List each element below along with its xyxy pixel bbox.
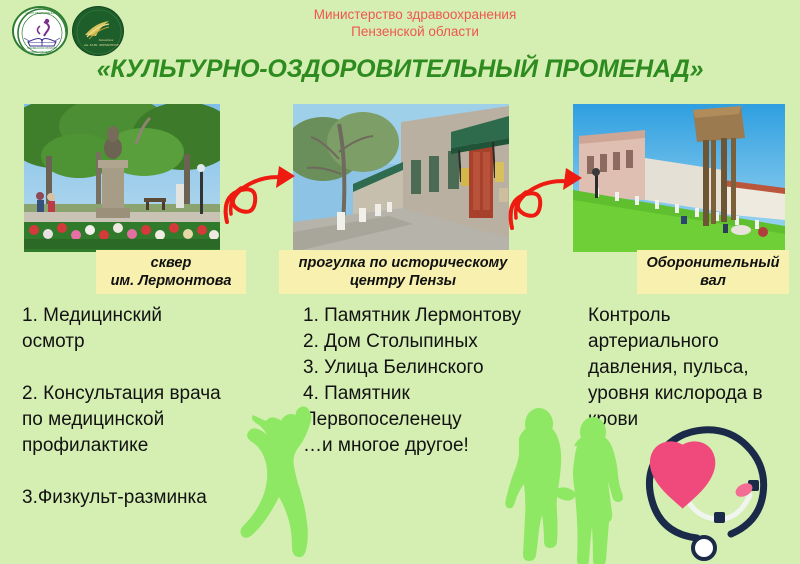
caption-line-1: прогулка по историческому — [299, 255, 508, 271]
caption-line-2: центру Пензы — [350, 273, 456, 289]
caption-defensive-rampart: Оборонительный вал — [637, 250, 789, 294]
svg-text:Заповедник: Заповедник — [99, 38, 114, 42]
caption-line-2: вал — [700, 273, 726, 289]
defensive-rampart-photo — [573, 104, 785, 252]
lermontov-quill-icon: Заповедник им. М.Ю. ЛЕРМОНТОВА — [73, 7, 124, 56]
medical-steps-column: 1. Медицинский осмотр 2. Консультация вр… — [22, 303, 282, 511]
ministry-line-2: Пензенской области — [250, 23, 580, 40]
lermontov-museum-logo: Заповедник им. М.Ю. ЛЕРМОНТОВА — [72, 6, 124, 56]
svg-text:им. М.Ю. ЛЕРМОНТОВА: им. М.Ю. ЛЕРМОНТОВА — [84, 43, 122, 47]
route-landmarks-column: 1. Памятник Лермонтову 2. Дом Столыпиных… — [303, 303, 578, 459]
caption-line-2: им. Лермонтова — [111, 273, 232, 289]
svg-text:ЦЕНТР ОБЩЕСТВЕННОГО: ЦЕНТР ОБЩЕСТВЕННОГО — [25, 11, 58, 15]
caption-lermontov-square: сквер им. Лермонтова — [96, 250, 246, 294]
historic-center-photo — [293, 104, 509, 252]
defensive-rampart-illustration — [573, 104, 785, 252]
ministry-heading: Министерство здравоохранения Пензенской … — [250, 6, 580, 40]
curved-arrow-icon — [226, 166, 295, 222]
page-title: «КУЛЬТУРНО-ОЗДОРОВИТЕЛЬНЫЙ ПРОМЕНАД» — [0, 55, 800, 84]
ministry-line-1: Министерство здравоохранения — [250, 6, 580, 23]
curved-arrow-icon — [511, 168, 582, 228]
pensa-health-center-logo: ЦЕНТР ОБЩЕСТВЕННОГО ЗДОРОВЬЯ И ПРОФИЛАКТ… — [12, 6, 68, 56]
lermontov-square-illustration — [24, 104, 220, 252]
caption-line-1: Оборонительный — [646, 255, 779, 271]
caption-line-1: сквер — [151, 255, 192, 271]
lermontov-square-photo — [24, 104, 220, 252]
monitoring-column: Контроль артериального давления, пульса,… — [588, 303, 800, 433]
svg-text:ПЕНЗЕНСКАЯ ОБЛАСТЬ: ПЕНЗЕНСКАЯ ОБЛАСТЬ — [27, 46, 58, 50]
poster-canvas: ЦЕНТР ОБЩЕСТВЕННОГО ЗДОРОВЬЯ И ПРОФИЛАКТ… — [0, 0, 800, 564]
historic-center-illustration — [293, 104, 509, 252]
health-center-emblem-icon: ЦЕНТР ОБЩЕСТВЕННОГО ЗДОРОВЬЯ И ПРОФИЛАКТ… — [14, 8, 68, 56]
caption-historic-center: прогулка по историческому центру Пензы — [279, 250, 527, 294]
heart-stethoscope-icon — [649, 430, 763, 559]
svg-text:ЗДОРОВЬЯ И ПРОФИЛАКТИКИ: ЗДОРОВЬЯ И ПРОФИЛАКТИКИ — [23, 50, 62, 54]
